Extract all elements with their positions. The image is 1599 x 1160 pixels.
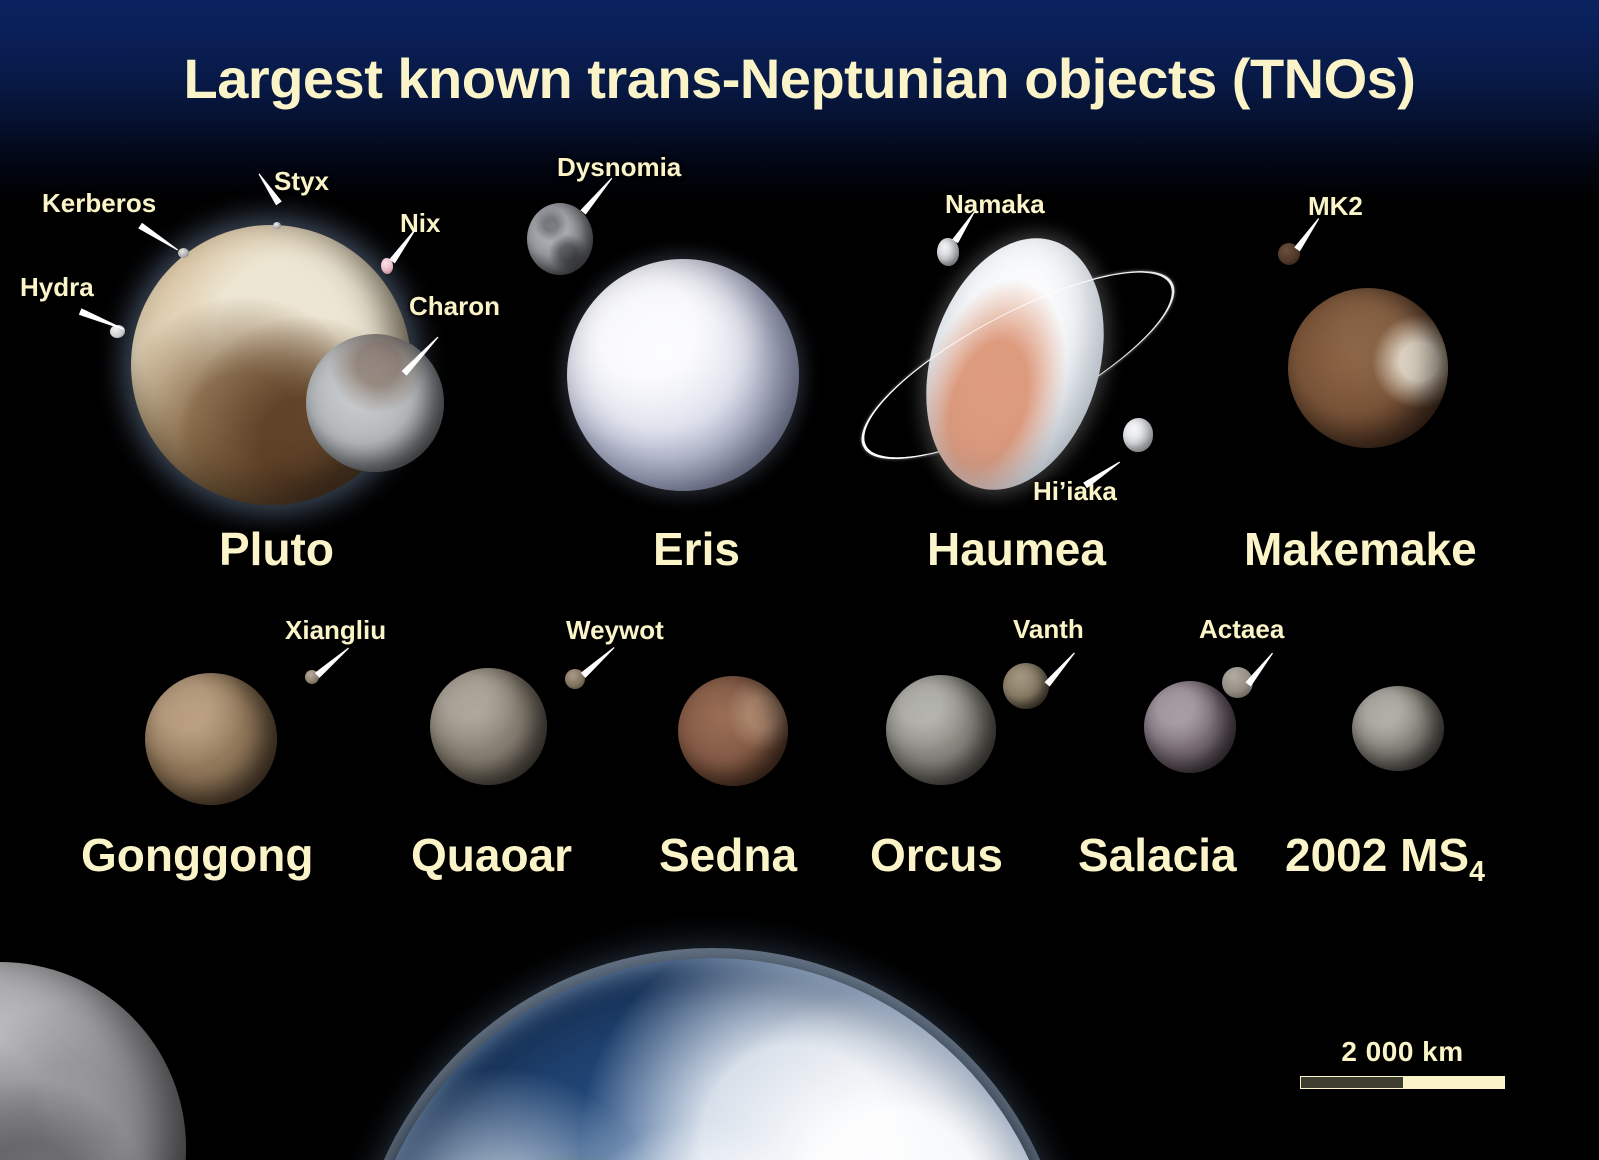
body-label-eris: Eris bbox=[653, 522, 740, 576]
body-sedna bbox=[678, 676, 788, 786]
body-hiiaka bbox=[1123, 418, 1153, 452]
body-label-quaoar: Quaoar bbox=[411, 828, 572, 882]
body-vanth bbox=[1003, 663, 1049, 709]
body-label-orcus: Orcus bbox=[870, 828, 1003, 882]
body-orcus bbox=[886, 675, 996, 785]
moon-label-dysnomia: Dysnomia bbox=[557, 152, 681, 183]
moon-label-mk2: MK2 bbox=[1308, 191, 1363, 222]
leader-line-vanth bbox=[1044, 651, 1077, 687]
scale-bar: 2 000 km bbox=[1300, 1036, 1505, 1089]
tno-size-comparison-infographic: Largest known trans-Neptunian objects (T… bbox=[0, 0, 1599, 1160]
body-label-2002-ms4-subscript: 4 bbox=[1469, 856, 1485, 888]
leader-line-xiangliu bbox=[315, 645, 351, 678]
body-styx bbox=[273, 222, 281, 229]
body-label-pluto: Pluto bbox=[219, 522, 334, 576]
scale-bar-label: 2 000 km bbox=[1300, 1036, 1505, 1068]
page-title: Largest known trans-Neptunian objects (T… bbox=[0, 46, 1599, 111]
moon-label-charon: Charon bbox=[409, 291, 500, 322]
moon-label-hydra: Hydra bbox=[20, 272, 94, 303]
moon-label-kerberos: Kerberos bbox=[42, 188, 156, 219]
body-moon-reference bbox=[0, 962, 186, 1160]
body-label-haumea: Haumea bbox=[927, 522, 1106, 576]
body-label-gonggong: Gonggong bbox=[81, 828, 313, 882]
body-label-2002-ms4-main: 2002 MS bbox=[1285, 829, 1469, 881]
body-namaka bbox=[937, 238, 959, 266]
scale-bar-segment-light bbox=[1403, 1077, 1505, 1088]
scale-bar-graphic bbox=[1300, 1076, 1505, 1089]
body-label-sedna: Sedna bbox=[659, 828, 797, 882]
body-salacia bbox=[1144, 681, 1236, 773]
body-2002-ms4 bbox=[1352, 686, 1444, 771]
body-eris bbox=[567, 259, 799, 491]
body-label-2002-ms4: 2002 MS4 bbox=[1285, 828, 1485, 889]
moon-label-actaea: Actaea bbox=[1199, 614, 1284, 645]
body-makemake bbox=[1288, 288, 1448, 448]
moon-label-xiangliu: Xiangliu bbox=[285, 615, 386, 646]
body-quaoar bbox=[430, 668, 547, 785]
moon-label-vanth: Vanth bbox=[1013, 614, 1084, 645]
body-label-salacia: Salacia bbox=[1078, 828, 1237, 882]
moon-label-styx: Styx bbox=[274, 166, 329, 197]
body-earth-reference bbox=[362, 958, 1062, 1160]
body-dysnomia bbox=[527, 203, 593, 275]
leader-line-kerberos bbox=[138, 223, 180, 253]
moon-label-nix: Nix bbox=[400, 208, 440, 239]
body-kerberos bbox=[178, 248, 189, 258]
moon-label-weywot: Weywot bbox=[566, 615, 664, 646]
moon-label-namaka: Namaka bbox=[945, 189, 1045, 220]
body-gonggong bbox=[145, 673, 277, 805]
moon-label-hiiaka: Hi’iaka bbox=[1033, 476, 1117, 507]
leader-line-weywot bbox=[581, 645, 617, 678]
body-label-makemake: Makemake bbox=[1244, 522, 1477, 576]
leader-line-actaea bbox=[1245, 651, 1275, 687]
scale-bar-segment-dark bbox=[1301, 1077, 1403, 1088]
